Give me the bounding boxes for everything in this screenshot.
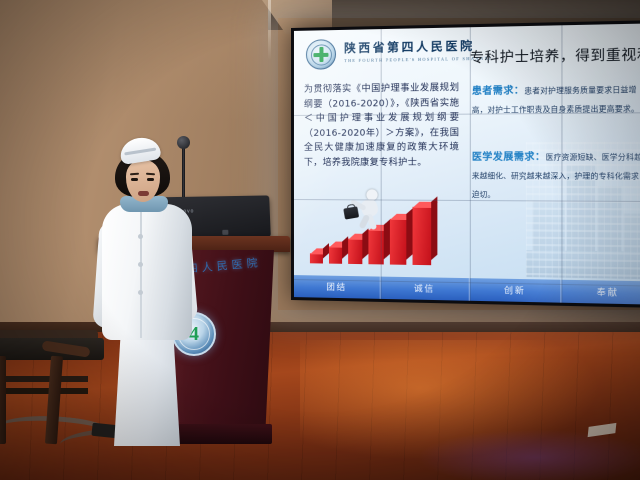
- slide-right-column: 患者需求：患者对护理服务质量要求日益增高，对护士工作职责及自身素质提出更高要求。…: [472, 78, 640, 232]
- eye-left: [131, 178, 138, 181]
- bench-leg-right: [45, 356, 63, 445]
- footer-item-innovation: 创新: [470, 278, 562, 303]
- chart-bar: [348, 239, 362, 264]
- briefcase-icon: [343, 206, 359, 219]
- businessman-figure-icon: [344, 189, 391, 232]
- bench-rail-lower: [0, 388, 88, 394]
- presentation-slide: 陕西省第四人民医院 THE FOURTH PEOPLE'S HOSPITAL O…: [294, 23, 640, 304]
- ascending-bar-chart-graphic: [310, 195, 453, 272]
- footer-item-dedication: 奉献: [561, 280, 640, 305]
- bench-rail-upper: [0, 376, 88, 382]
- need-block-medical: 医学发展需求：医疗资源短缺、医学分科越来越细化、研究越来越深入，护理的专科化需求…: [472, 146, 640, 203]
- floor-purple-reflection: [420, 430, 640, 480]
- mouth: [138, 191, 149, 196]
- nurse-skirt: [114, 334, 180, 446]
- footer-item-integrity: 诚信: [381, 277, 470, 301]
- slide-footer-bar: 团结 诚信 创新 奉献: [294, 275, 640, 305]
- need-block-patient: 患者需求：患者对护理服务质量要求日益增高，对护士工作职责及自身素质提出更高要求。: [472, 78, 640, 117]
- nurse-speaker: [96, 138, 200, 454]
- hospital-circle-cross-logo: [306, 39, 336, 70]
- led-video-wall[interactable]: 陕西省第四人民医院 THE FOURTH PEOPLE'S HOSPITAL O…: [291, 20, 640, 308]
- chart-bar: [329, 246, 342, 263]
- wall-corner-edge: [268, 0, 271, 60]
- eye-right: [147, 178, 154, 181]
- footer-item-unity: 团结: [294, 275, 381, 299]
- laptop-hinge: [222, 230, 228, 235]
- slide-title: 专科护士培养，得到重视和发展: [470, 42, 640, 66]
- eyebrow-right: [146, 173, 155, 176]
- uniform-button: [138, 262, 143, 267]
- slide-left-paragraph: 为贯彻落实《中国护理事业发展规划纲要（2016-2020）》，《陕西省实施＜中国…: [304, 81, 459, 171]
- bench-leg-left: [0, 356, 6, 444]
- chart-bar: [413, 207, 432, 265]
- uniform-placket: [140, 212, 142, 338]
- photo-scene: 陕西省第四人民医院 THE FOURTH PEOPLE'S HOSPITAL O…: [0, 0, 640, 480]
- nurse-uniform: [102, 204, 192, 340]
- chart-bar: [310, 253, 323, 263]
- need-heading-patient: 患者需求：: [472, 85, 524, 97]
- uniform-button: [138, 234, 143, 239]
- chart-bar: [368, 230, 383, 265]
- eyebrow-left: [130, 173, 139, 176]
- uniform-button: [138, 290, 143, 295]
- slide-header: 陕西省第四人民医院 THE FOURTH PEOPLE'S HOSPITAL O…: [300, 30, 640, 75]
- chart-bar: [390, 219, 406, 265]
- need-heading-medical: 医学发展需求：: [472, 152, 546, 163]
- green-cross-icon: [313, 47, 328, 62]
